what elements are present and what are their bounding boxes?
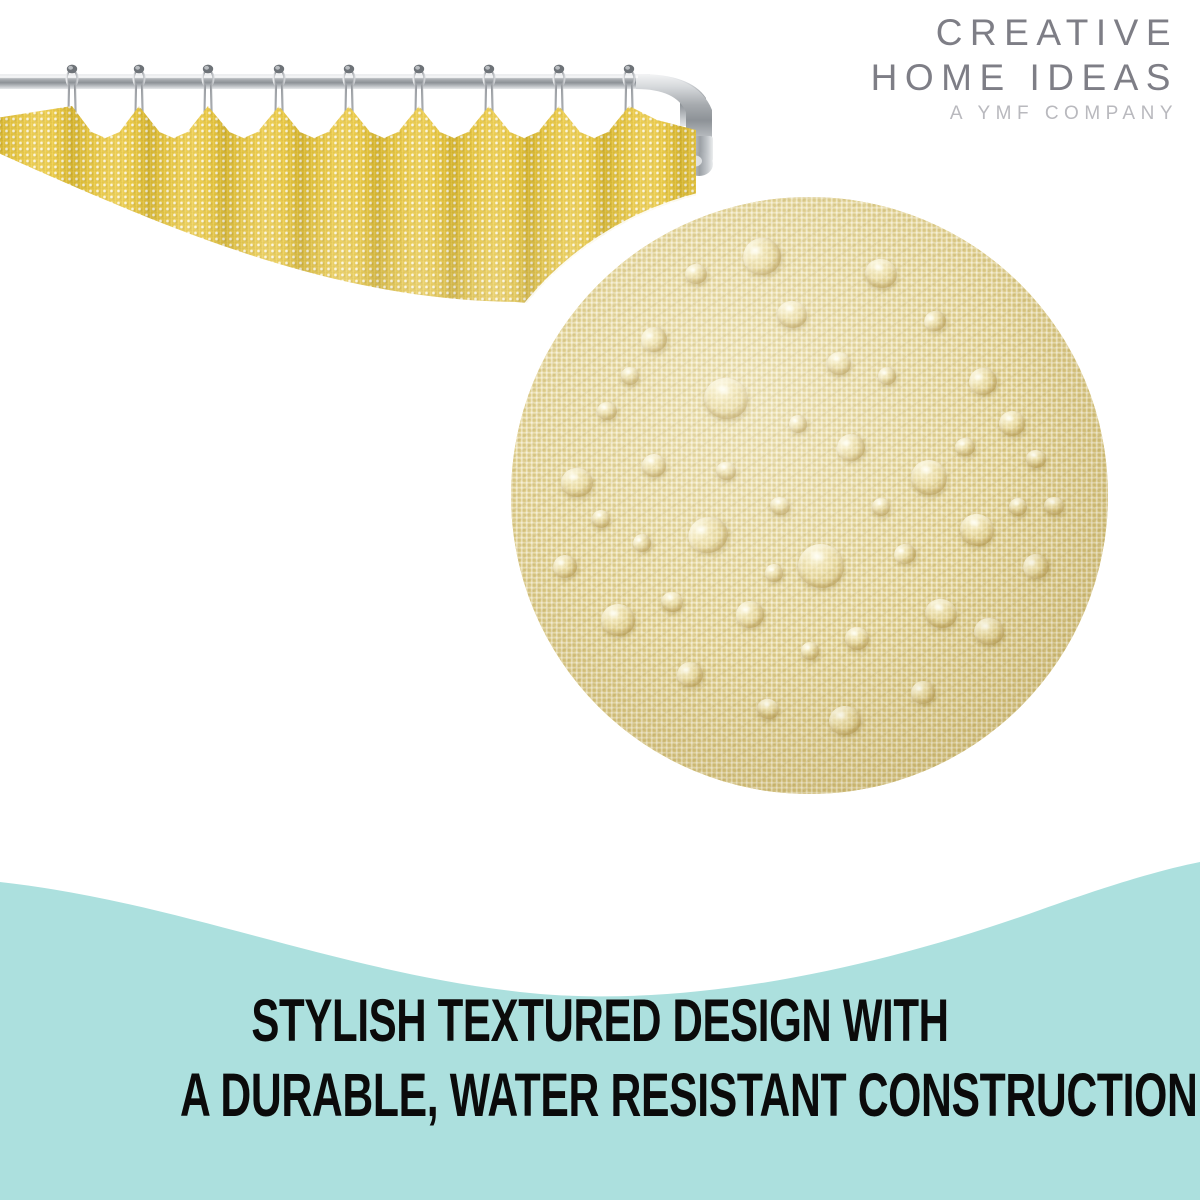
tagline-line-1: STYLISH TEXTURED DESIGN WITH <box>180 984 1020 1058</box>
detail-vignette <box>511 197 1108 794</box>
brand-sub-tagline: A YMF COMPANY <box>871 104 1178 123</box>
water-repellent-detail-inset <box>455 185 1115 825</box>
detail-inset-fabric <box>511 197 1108 794</box>
product-marketing-image: CREATIVE HOME IDEAS A YMF COMPANY <box>0 0 1200 1200</box>
tagline-block: STYLISH TEXTURED DESIGN WITH A DURABLE, … <box>0 984 1200 1132</box>
brand-name-line-2: HOME IDEAS <box>871 59 1178 96</box>
tagline-line-2: A DURABLE, WATER RESISTANT CONSTRUCTION. <box>180 1058 1020 1132</box>
brand-logo: CREATIVE HOME IDEAS A YMF COMPANY <box>871 14 1178 123</box>
brand-name-line-1: CREATIVE <box>871 14 1178 51</box>
